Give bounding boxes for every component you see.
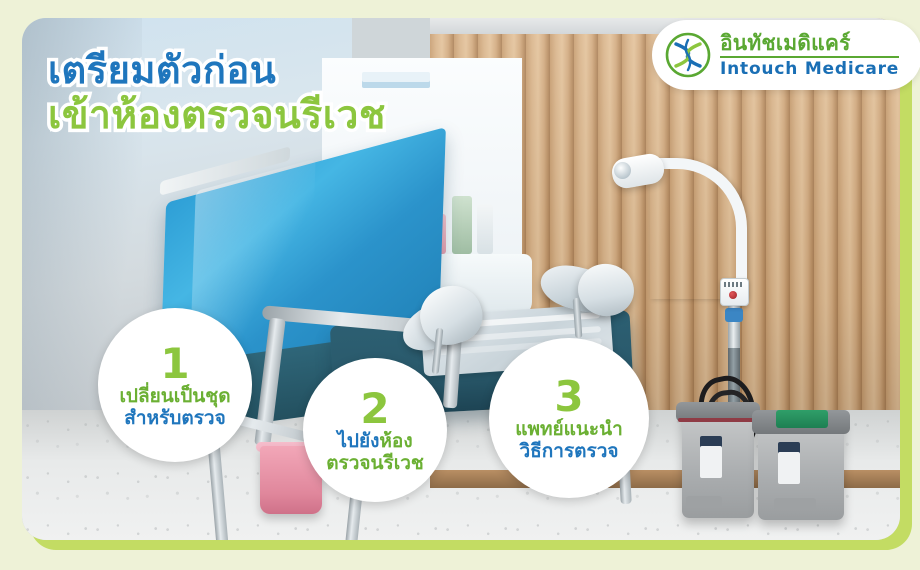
headline: เตรียมตัวก่อน เข้าห้องตรวจนรีเวช: [48, 48, 468, 139]
trash-bin-pedal: [774, 498, 816, 510]
lamp-power-button: [729, 291, 737, 299]
step-circle-3[interactable]: 3 แพทย์แนะนำ วิธีการตรวจ: [489, 338, 649, 498]
step-number: 2: [360, 385, 389, 433]
green-bottle: [452, 196, 472, 254]
trash-bin-label: [778, 442, 800, 484]
step-number: 1: [160, 340, 189, 388]
brand-logo[interactable]: อินทัชเมดิแคร์ Intouch Medicare: [652, 20, 920, 90]
trash-bin-sticker: [776, 410, 828, 428]
step-circle-2[interactable]: 2 ไปยังห้อง ตรวจนรีเวช: [303, 358, 447, 502]
step-text-line-1: แพทย์แนะนำ: [515, 419, 623, 441]
lamp-control-text: [724, 282, 743, 287]
lamp-lens: [614, 162, 631, 179]
lamp-collar: [725, 308, 743, 322]
step-text-line-2: ตรวจนรีเวช: [326, 453, 424, 475]
trash-bin-pedal: [686, 496, 722, 508]
white-bottle: [477, 204, 493, 254]
logo-english-text: Intouch Medicare: [720, 61, 899, 78]
step-text-segment-a: ไปยัง: [337, 430, 379, 452]
step-text-line-2: สำหรับตรวจ: [124, 408, 225, 430]
trash-bin-label: [700, 436, 722, 478]
logo-thai-text: อินทัชเมดิแคร์: [720, 33, 899, 58]
poster-canvas: เตรียมตัวก่อน เข้าห้องตรวจนรีเวช อินทัชเ…: [0, 0, 920, 570]
headline-line-2: เข้าห้องตรวจนรีเวช: [48, 93, 468, 139]
step-text-segment-b: ห้อง: [379, 430, 412, 452]
step-number: 3: [554, 373, 583, 421]
intouch-medicare-mark-icon: [664, 31, 712, 79]
step-text-line-1: ไปยังห้อง: [337, 431, 412, 453]
step-text-line-1: เปลี่ยนเป็นชุด: [119, 386, 230, 408]
step-circle-1[interactable]: 1 เปลี่ยนเป็นชุด สำหรับตรวจ: [98, 308, 252, 462]
trash-bin-stripe: [678, 418, 758, 422]
headline-line-1: เตรียมตัวก่อน: [48, 48, 468, 93]
step-text-line-2: วิธีการตรวจ: [520, 441, 619, 463]
logo-wordmark: อินทัชเมดิแคร์ Intouch Medicare: [720, 33, 899, 78]
